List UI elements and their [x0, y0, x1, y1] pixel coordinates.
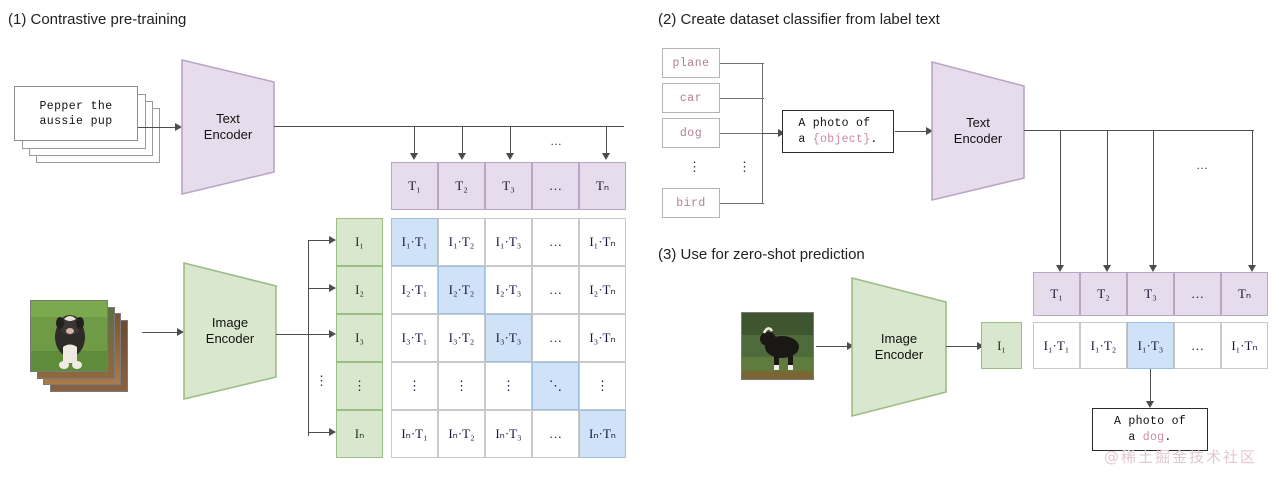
image-encoder-p1: Image Encoder [182, 261, 278, 401]
image-embedding-I1: I₁ [336, 218, 383, 266]
t1-drop-line [414, 126, 415, 154]
matrix-row: I₂·T₁I₂·T₂I₂·T₃…I₂·Tₙ [391, 266, 626, 314]
classifier-embedding-...: … [1174, 272, 1221, 316]
prompt-line1: A photo of [798, 116, 877, 132]
label-car-connector [720, 98, 764, 99]
text-card-front: Pepper the aussie pup [14, 86, 138, 141]
prediction-line1: A photo of [1114, 414, 1186, 430]
image-embedding-bus [276, 334, 310, 335]
matrix-cell-r2-c2: I₂·T₂ [438, 266, 485, 314]
matrix-cell-r4-c2: ⋮ [438, 362, 485, 410]
label-bird-connector [720, 203, 764, 204]
matrix-cell-r4-c5: ⋮ [579, 362, 626, 410]
matrix-cell-r4-c3: ⋮ [485, 362, 532, 410]
prediction-suffix: . [1164, 431, 1171, 444]
i2-line [308, 288, 330, 289]
p3-t3-drop-line [1153, 130, 1154, 266]
classifier-embedding-TN: Tₙ [1221, 272, 1268, 316]
i3-line [308, 334, 330, 335]
image-bus-ellipsis: ⋮ [315, 374, 328, 387]
text-embedding-TN: Tₙ [579, 162, 626, 210]
matrix-cell-r5-c3: Iₙ·T₃ [485, 410, 532, 458]
image-encoder-p3: Image Encoder [850, 276, 948, 418]
panel-2-title: (2) Create dataset classifier from label… [658, 11, 940, 28]
score-cell-3: I₁·T₃ [1127, 322, 1174, 369]
classifier-embedding-T1: T₁ [1033, 272, 1080, 316]
p3-t2-drop-arrow [1103, 265, 1111, 272]
matrix-row: Iₙ·T₁Iₙ·T₂Iₙ·T₃…Iₙ·Tₙ [391, 410, 626, 458]
text-embedding-...: … [532, 162, 579, 210]
prompt-suffix: . [870, 133, 877, 146]
prediction-box: A photo of a dog. [1092, 408, 1208, 451]
t1-drop-arrow [410, 153, 418, 160]
p3-t3-drop-arrow [1149, 265, 1157, 272]
i1-arrow [329, 236, 336, 244]
matrix-cell-r1-c1: I₁·T₁ [391, 218, 438, 266]
panel-1-title: (1) Contrastive pre-training [8, 11, 186, 28]
i3-arrow [329, 330, 336, 338]
image-embedding-vertical-bus [308, 240, 309, 436]
prompt-object-token: {object} [813, 133, 871, 146]
prompt-template-box: A photo of a {object}. [782, 110, 894, 153]
text-sample-stack: Pepper the aussie pup [14, 86, 164, 166]
t2-drop-arrow [458, 153, 466, 160]
text-encoder-p1-label-1: Text [180, 111, 276, 127]
prediction-object-token: dog [1143, 431, 1165, 444]
p3-tn-drop-line [1252, 130, 1253, 266]
matrix-cell-r4-c4: ⋱ [532, 362, 579, 410]
similarity-matrix: I₁·T₁I₁·T₂I₁·T₃…I₁·TₙI₂·T₁I₂·T₂I₂·T₃…I₂·… [391, 218, 626, 458]
prompt-line2: a {object}. [798, 132, 877, 148]
matrix-cell-r3-c4: … [532, 314, 579, 362]
image-embedding-...: ⋮ [336, 362, 383, 410]
watermark: @稀土掘金技术社区 [1104, 446, 1257, 467]
arrow-line-image-to-encoder [142, 332, 178, 333]
matrix-cell-r5-c5: Iₙ·Tₙ [579, 410, 626, 458]
label-plane-connector [720, 63, 764, 64]
panel-3-title: (3) Use for zero-shot prediction [658, 246, 865, 263]
classifier-embedding-T2: T₂ [1080, 272, 1127, 316]
matrix-cell-r3-c2: I₃·T₂ [438, 314, 485, 362]
matrix-row: ⋮⋮⋮⋱⋮ [391, 362, 626, 410]
p3-t2-drop-line [1107, 130, 1108, 266]
matrix-cell-r3-c3: I₃·T₃ [485, 314, 532, 362]
matrix-cell-r5-c2: Iₙ·T₂ [438, 410, 485, 458]
prompt-prefix: a [798, 133, 812, 146]
prediction-prefix: a [1128, 431, 1142, 444]
p2-bus-ellipsis: … [1196, 158, 1209, 172]
t3-drop-line [510, 126, 511, 154]
p3-t1-drop-line [1060, 130, 1061, 266]
label-item-bird[interactable]: bird [662, 188, 720, 218]
label-item-plane[interactable]: plane [662, 48, 720, 78]
tn-drop-line [606, 126, 607, 154]
score-cell-5: I₁·Tₙ [1221, 322, 1268, 369]
text-encoder-p1: Text Encoder [180, 58, 276, 196]
text-encoder-p2-label-1: Text [930, 115, 1026, 131]
image-encoder-p3-label-1: Image [850, 331, 948, 347]
text-bus-ellipsis: … [550, 134, 563, 148]
in-arrow [329, 428, 336, 436]
matrix-cell-r1-c3: I₁·T₃ [485, 218, 532, 266]
matrix-cell-r2-c1: I₂·T₁ [391, 266, 438, 314]
matrix-cell-r2-c5: I₂·Tₙ [579, 266, 626, 314]
arrow-line-encoder-to-i1 [946, 346, 978, 347]
matrix-cell-r4-c1: ⋮ [391, 362, 438, 410]
matrix-row: I₁·T₁I₁·T₂I₁·T₃…I₁·Tₙ [391, 218, 626, 266]
image-embedding-I3: I₃ [336, 314, 383, 362]
text-embedding-T3: T₃ [485, 162, 532, 210]
matrix-row: I₃·T₁I₃·T₂I₃·T₃…I₃·Tₙ [391, 314, 626, 362]
p2-embedding-bus [1024, 130, 1254, 131]
text-sample-line2: aussie pup [39, 114, 112, 129]
text-encoder-p2-label-2: Encoder [930, 131, 1026, 147]
label-list: planecardogbird⋮⋮ [662, 48, 782, 223]
image-encoder-p3-label-2: Encoder [850, 347, 948, 363]
similarity-score-row: I₁·T₁I₁·T₂I₁·T₃…I₁·Tₙ [1033, 322, 1268, 369]
score-cell-2: I₁·T₂ [1080, 322, 1127, 369]
image-encoder-p1-label-1: Image [182, 315, 278, 331]
image-encoder-p1-label-2: Encoder [182, 331, 278, 347]
arrow-line-query-to-encoder [816, 346, 848, 347]
prediction-drop-arrow [1146, 401, 1154, 408]
classifier-embedding-row: T₁T₂T₃…Tₙ [1033, 272, 1268, 316]
text-embedding-row: T₁T₂T₃…Tₙ [391, 162, 626, 210]
score-cell-1: I₁·T₁ [1033, 322, 1080, 369]
tn-drop-arrow [602, 153, 610, 160]
classifier-embedding-T3: T₃ [1127, 272, 1174, 316]
matrix-cell-r1-c2: I₁·T₂ [438, 218, 485, 266]
p3-tn-drop-arrow [1248, 265, 1256, 272]
t3-drop-arrow [506, 153, 514, 160]
image-embedding-IN: Iₙ [336, 410, 383, 458]
matrix-cell-r5-c1: Iₙ·T₁ [391, 410, 438, 458]
image-embedding-column: I₁I₂I₃⋮Iₙ [336, 218, 383, 458]
label-item-car[interactable]: car [662, 83, 720, 113]
text-encoder-p2: Text Encoder [930, 60, 1026, 202]
text-encoder-p1-label-2: Encoder [180, 127, 276, 143]
label-bus-ellipsis: ⋮ [738, 160, 751, 173]
query-image-embedding: I₁ [981, 322, 1022, 369]
prediction-drop-line [1150, 369, 1151, 402]
text-embedding-T2: T₂ [438, 162, 485, 210]
i1-line [308, 240, 330, 241]
matrix-cell-r1-c4: … [532, 218, 579, 266]
text-embedding-bus [274, 126, 624, 127]
label-dog-connector [720, 133, 764, 134]
label-item-dog[interactable]: dog [662, 118, 720, 148]
matrix-cell-r1-c5: I₁·Tₙ [579, 218, 626, 266]
score-cell-4: … [1174, 322, 1221, 369]
matrix-cell-r3-c1: I₃·T₁ [391, 314, 438, 362]
matrix-cell-r2-c3: I₂·T₃ [485, 266, 532, 314]
query-image [741, 312, 814, 380]
prediction-line2: a dog. [1114, 430, 1186, 446]
i2-arrow [329, 284, 336, 292]
label-list-ellipsis: ⋮ [688, 160, 701, 173]
text-sample-line1: Pepper the [39, 99, 112, 114]
image-embedding-I2: I₂ [336, 266, 383, 314]
t2-drop-line [462, 126, 463, 154]
text-embedding-T1: T₁ [391, 162, 438, 210]
image-card-front [30, 300, 108, 372]
p3-t1-drop-arrow [1056, 265, 1064, 272]
in-line [308, 432, 330, 433]
matrix-cell-r5-c4: … [532, 410, 579, 458]
matrix-cell-r3-c5: I₃·Tₙ [579, 314, 626, 362]
image-sample-stack [30, 300, 160, 400]
arrow-line-prompt-to-encoder [895, 131, 927, 132]
matrix-cell-r2-c4: … [532, 266, 579, 314]
arrow-line-text-to-encoder [138, 127, 176, 128]
